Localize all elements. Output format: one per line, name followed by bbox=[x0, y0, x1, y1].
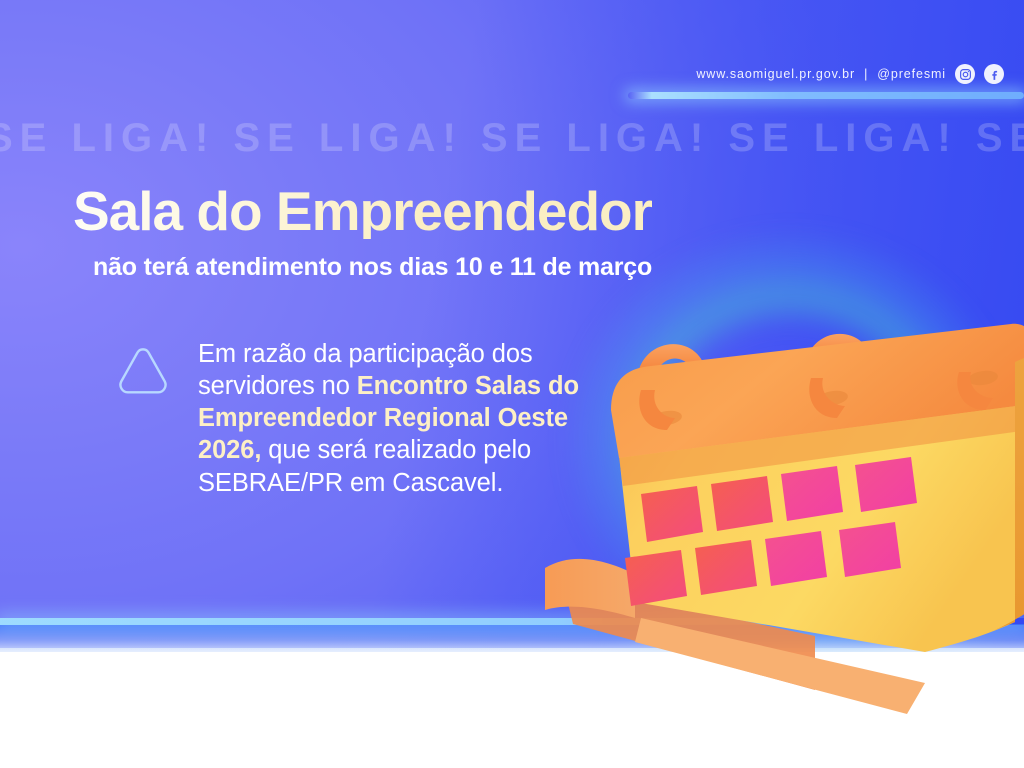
rounded-triangle-icon bbox=[112, 341, 174, 403]
neon-line-top bbox=[628, 92, 1024, 99]
page-title: Sala do Empreendedor bbox=[73, 183, 652, 239]
top-contact-bar: www.saomiguel.pr.gov.br | @prefesmi bbox=[696, 64, 1004, 84]
facebook-icon[interactable] bbox=[984, 64, 1004, 84]
watermark-se-liga: SE LIGA! SE LIGA! SE LIGA! SE LIGA! SE L… bbox=[0, 118, 1024, 158]
website-url: www.saomiguel.pr.gov.br bbox=[696, 67, 855, 81]
footer-logos: SALA DO Empreendedor bbox=[0, 652, 1024, 768]
poster-canvas: SE LIGA! SE LIGA! SE LIGA! SE LIGA! SE L… bbox=[0, 0, 1024, 768]
social-handle: @prefesmi bbox=[877, 67, 946, 81]
instagram-icon[interactable] bbox=[955, 64, 975, 84]
page-subtitle: não terá atendimento nos dias 10 e 11 de… bbox=[93, 253, 652, 282]
separator: | bbox=[864, 67, 868, 81]
